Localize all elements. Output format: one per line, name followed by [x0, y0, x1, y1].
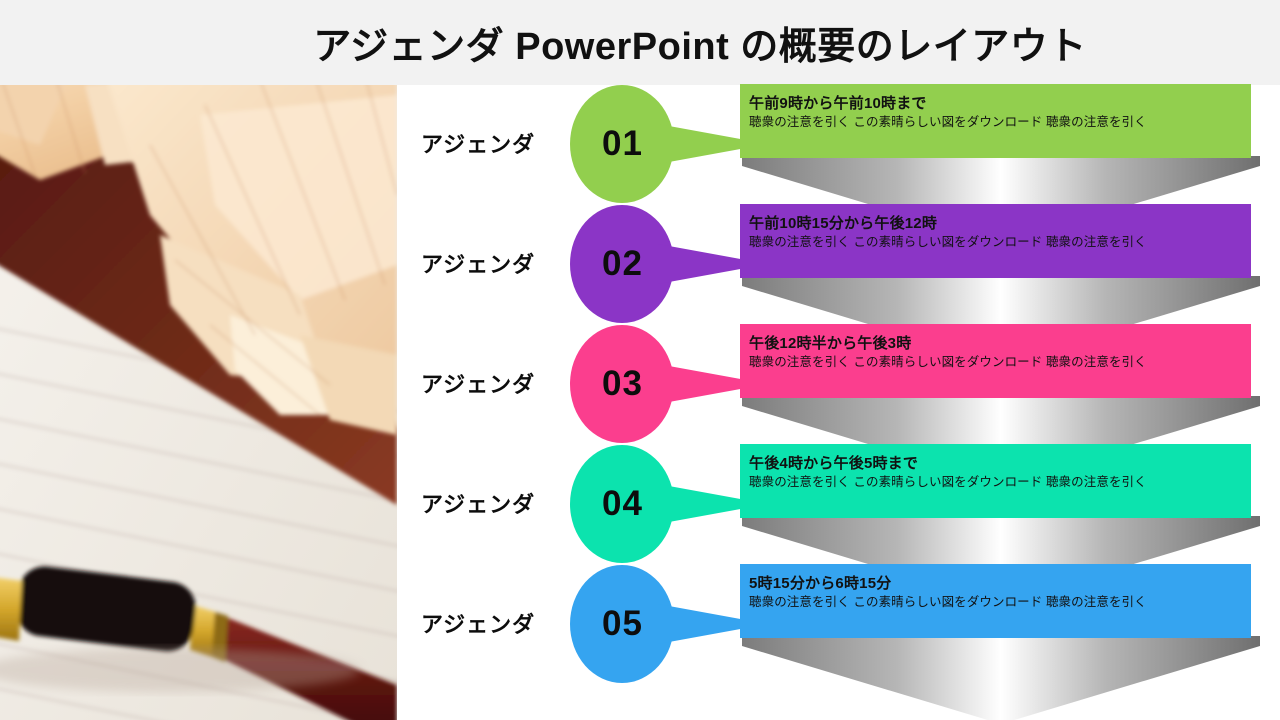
- slide-header: アジェンダ PowerPoint の概要のレイアウト: [0, 0, 1280, 85]
- banner-body: 午前10時15分から午後12時 聴衆の注意を引く この素晴らしい図をダウンロード…: [740, 204, 1251, 278]
- agenda-label: アジェンダ: [421, 367, 581, 399]
- banner-subtitle: 聴衆の注意を引く この素晴らしい図をダウンロード 聴衆の注意を引く: [749, 234, 1251, 251]
- banner-shadow-chevron: [742, 636, 1260, 720]
- banner-subtitle: 聴衆の注意を引く この素晴らしい図をダウンロード 聴衆の注意を引く: [749, 474, 1251, 491]
- banner-body: 午後4時から午後5時まで 聴衆の注意を引く この素晴らしい図をダウンロード 聴衆…: [740, 444, 1251, 518]
- agenda-row: アジェンダ 04: [397, 445, 1280, 565]
- banner-title: 午後4時から午後5時まで: [749, 454, 1251, 473]
- agenda-row: アジェンダ 05: [397, 565, 1280, 685]
- agenda-row: アジェンダ 01: [397, 85, 1280, 205]
- banner-subtitle: 聴衆の注意を引く この素晴らしい図をダウンロード 聴衆の注意を引く: [749, 354, 1251, 371]
- page-title: アジェンダ PowerPoint の概要のレイアウト: [193, 15, 1087, 70]
- agenda-banner[interactable]: 5時15分から6時15分 聴衆の注意を引く この素晴らしい図をダウンロード 聴衆…: [740, 564, 1260, 720]
- agenda-row: アジェンダ 03: [397, 325, 1280, 445]
- banner-body: 午前9時から午前10時まで 聴衆の注意を引く この素晴らしい図をダウンロード 聴…: [740, 84, 1251, 158]
- agenda-label: アジェンダ: [421, 487, 581, 519]
- banner-subtitle: 聴衆の注意を引く この素晴らしい図をダウンロード 聴衆の注意を引く: [749, 594, 1251, 611]
- agenda-label: アジェンダ: [421, 607, 581, 639]
- photo-panel: [0, 85, 397, 720]
- banner-title: 5時15分から6時15分: [749, 574, 1251, 593]
- banner-body: 5時15分から6時15分 聴衆の注意を引く この素晴らしい図をダウンロード 聴衆…: [740, 564, 1251, 638]
- banner-title: 午前9時から午前10時まで: [749, 94, 1251, 113]
- banner-title: 午後12時半から午後3時: [749, 334, 1251, 353]
- pen-on-lined-notebook-photo: [0, 85, 397, 720]
- agenda-label: アジェンダ: [421, 127, 581, 159]
- agenda-list: アジェンダ 01: [397, 85, 1280, 720]
- agenda-label: アジェンダ: [421, 247, 581, 279]
- banner-title: 午前10時15分から午後12時: [749, 214, 1251, 233]
- banner-body: 午後12時半から午後3時 聴衆の注意を引く この素晴らしい図をダウンロード 聴衆…: [740, 324, 1251, 398]
- agenda-row: アジェンダ 02: [397, 205, 1280, 325]
- banner-subtitle: 聴衆の注意を引く この素晴らしい図をダウンロード 聴衆の注意を引く: [749, 114, 1251, 131]
